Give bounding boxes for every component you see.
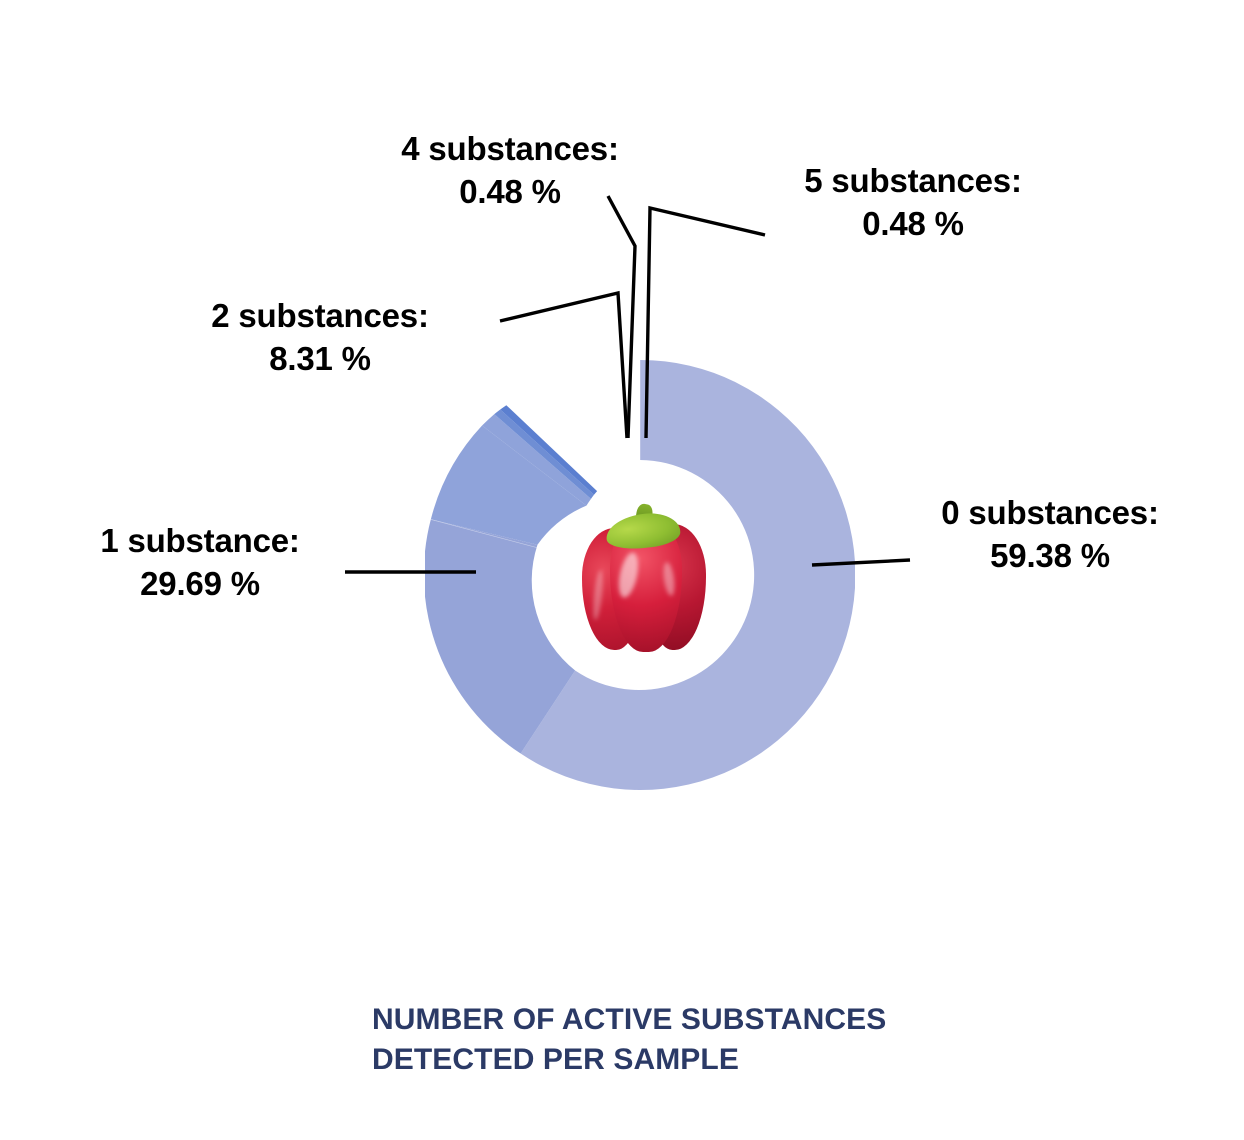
label-4-substances-value: 0.48 % <box>340 171 680 214</box>
label-4-substances-name: 4 substances: <box>401 130 619 167</box>
label-1-substance: 1 substance: 29.69 % <box>50 520 350 606</box>
label-0-substances-value: 59.38 % <box>900 535 1200 578</box>
chart-caption-line2: DETECTED PER SAMPLE <box>372 1040 1052 1080</box>
red-bell-pepper-photo <box>580 500 710 655</box>
label-0-substances-name: 0 substances: <box>941 494 1159 531</box>
label-4-substances: 4 substances: 0.48 % <box>340 128 680 214</box>
label-2-substances-value: 8.31 % <box>150 338 490 381</box>
donut-chart <box>425 360 855 790</box>
label-5-substances-value: 0.48 % <box>748 203 1078 246</box>
label-1-substance-value: 29.69 % <box>50 563 350 606</box>
label-5-substances-name: 5 substances: <box>804 162 1022 199</box>
label-2-substances: 2 substances: 8.31 % <box>150 295 490 381</box>
label-1-substance-name: 1 substance: <box>100 522 299 559</box>
label-0-substances: 0 substances: 59.38 % <box>900 492 1200 578</box>
chart-caption: NUMBER OF ACTIVE SUBSTANCES DETECTED PER… <box>372 1000 1052 1080</box>
label-2-substances-name: 2 substances: <box>211 297 429 334</box>
chart-page: 4 substances: 0.48 % 5 substances: 0.48 … <box>0 0 1244 1140</box>
chart-caption-line1: NUMBER OF ACTIVE SUBSTANCES <box>372 1003 886 1036</box>
label-5-substances: 5 substances: 0.48 % <box>748 160 1078 246</box>
